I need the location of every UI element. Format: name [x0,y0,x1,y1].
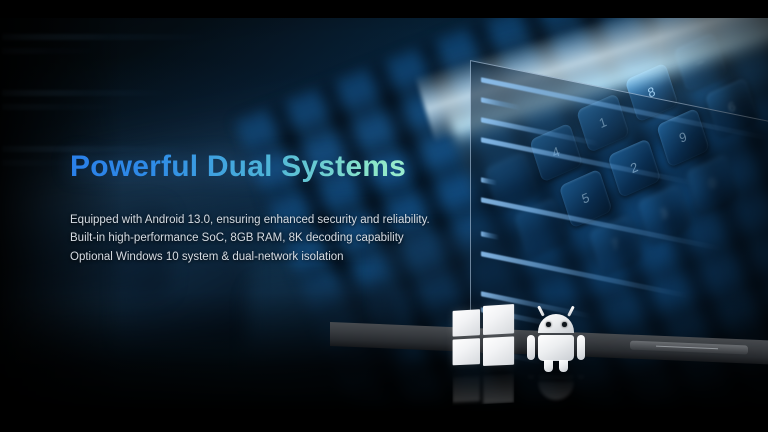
android-arm [577,335,585,360]
page-title: Powerful Dual Systems [70,150,430,185]
windows-pane [483,336,514,366]
letterbox-top [0,0,768,18]
android-head [538,314,574,333]
android-leg [559,360,568,372]
android-eye [562,322,567,327]
feature-line: Built-in high-performance SoC, 8GB RAM, … [70,229,430,248]
windows-pane [453,309,480,336]
android-body [538,335,574,361]
android-logo [522,302,590,372]
feature-line: Optional Windows 10 system & dual-networ… [70,248,430,267]
feature-line: Equipped with Android 13.0, ensuring enh… [70,211,430,230]
android-logo-reflection [522,372,590,412]
windows-pane [453,338,480,365]
feature-list: Equipped with Android 13.0, ensuring enh… [70,211,430,267]
windows-pane [483,304,514,335]
windows-logo-reflection [453,368,515,405]
letterbox-bottom [0,412,768,432]
copy-block: Powerful Dual Systems Equipped with Andr… [70,150,430,266]
banner-root: 4 1 8 – 5 2 9 6 7 3 0 [0,0,768,432]
android-antenna [537,306,544,317]
windows-logo [453,304,515,369]
android-antenna [567,306,574,317]
android-eye [546,322,551,327]
android-arm [527,335,535,360]
hinge-highlight [630,341,748,355]
android-leg [544,360,553,372]
